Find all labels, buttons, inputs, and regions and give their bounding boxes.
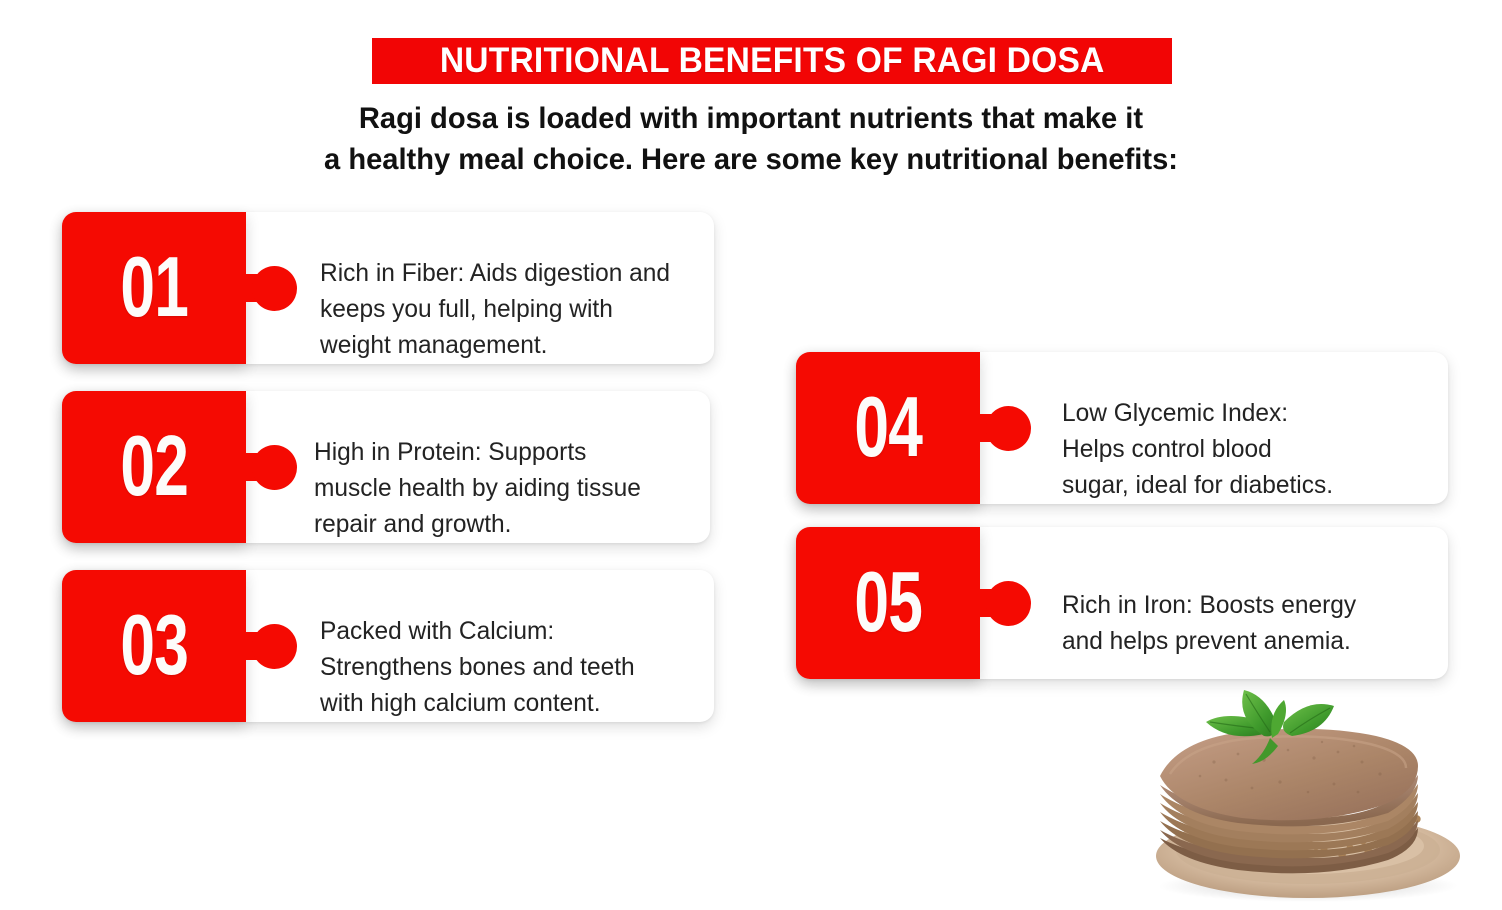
benefit-card-02[interactable]: 02 High in Protein: Supports muscle heal… — [62, 391, 710, 543]
card-number: 05 — [854, 560, 922, 645]
card-description-line-1: Packed with Calcium: — [320, 613, 692, 649]
card-number-block: 04 — [796, 352, 980, 504]
puzzle-knob-circle — [252, 266, 297, 311]
card-description-line-3: repair and growth. — [314, 506, 686, 542]
card-description-line-3: with high calcium content. — [320, 685, 692, 721]
page-title: NUTRITIONAL BENEFITS OF RAGI DOSA — [440, 41, 1105, 81]
card-description-line-1: High in Protein: Supports — [314, 434, 686, 470]
card-description-line-2: Strengthens bones and teeth — [320, 649, 692, 685]
card-description: Rich in Fiber: Aids digestion and keeps … — [320, 255, 700, 363]
benefit-card-05[interactable]: 05 Rich in Iron: Boosts energy and helps… — [796, 527, 1448, 679]
card-number-block: 01 — [62, 212, 246, 364]
card-number: 03 — [120, 603, 188, 688]
card-description-line-2: and helps prevent anemia. — [1062, 623, 1434, 659]
card-description: High in Protein: Supports muscle health … — [314, 434, 694, 542]
card-description: Low Glycemic Index: Helps control blood … — [1062, 395, 1442, 503]
page-subtitle: Ragi dosa is loaded with important nutri… — [0, 98, 1502, 180]
card-number-block: 03 — [62, 570, 246, 722]
infographic-page: NUTRITIONAL BENEFITS OF RAGI DOSA Ragi d… — [0, 0, 1502, 910]
subtitle-line-1: Ragi dosa is loaded with important nutri… — [23, 98, 1480, 139]
card-description-line-2: Helps control blood — [1062, 431, 1434, 467]
card-number: 02 — [120, 424, 188, 509]
card-description-line-3: weight management. — [320, 327, 692, 363]
card-description: Packed with Calcium: Strengthens bones a… — [320, 613, 700, 721]
card-description-line-1: Rich in Iron: Boosts energy — [1062, 587, 1434, 623]
puzzle-knob-circle — [986, 406, 1031, 451]
card-description-line-2: keeps you full, helping with — [320, 291, 692, 327]
benefit-card-01[interactable]: 01 Rich in Fiber: Aids digestion and kee… — [62, 212, 714, 364]
benefit-card-04[interactable]: 04 Low Glycemic Index: Helps control blo… — [796, 352, 1448, 504]
ragi-dosa-plate-image — [1118, 688, 1490, 903]
puzzle-knob-circle — [252, 445, 297, 490]
card-number-block: 05 — [796, 527, 980, 679]
puzzle-knob-circle — [252, 624, 297, 669]
subtitle-line-2: a healthy meal choice. Here are some key… — [23, 139, 1480, 180]
card-description: Rich in Iron: Boosts energy and helps pr… — [1062, 587, 1442, 659]
card-number: 04 — [854, 385, 922, 470]
puzzle-knob-circle — [986, 581, 1031, 626]
benefit-card-03[interactable]: 03 Packed with Calcium: Strengthens bone… — [62, 570, 714, 722]
card-description-line-3: sugar, ideal for diabetics. — [1062, 467, 1434, 503]
card-description-line-2: muscle health by aiding tissue — [314, 470, 686, 506]
card-number: 01 — [120, 245, 188, 330]
card-number-block: 02 — [62, 391, 246, 543]
dosa-stack — [1160, 729, 1418, 874]
card-description-line-1: Rich in Fiber: Aids digestion and — [320, 255, 692, 291]
card-description-line-1: Low Glycemic Index: — [1062, 395, 1434, 431]
page-title-banner: NUTRITIONAL BENEFITS OF RAGI DOSA — [372, 38, 1172, 84]
